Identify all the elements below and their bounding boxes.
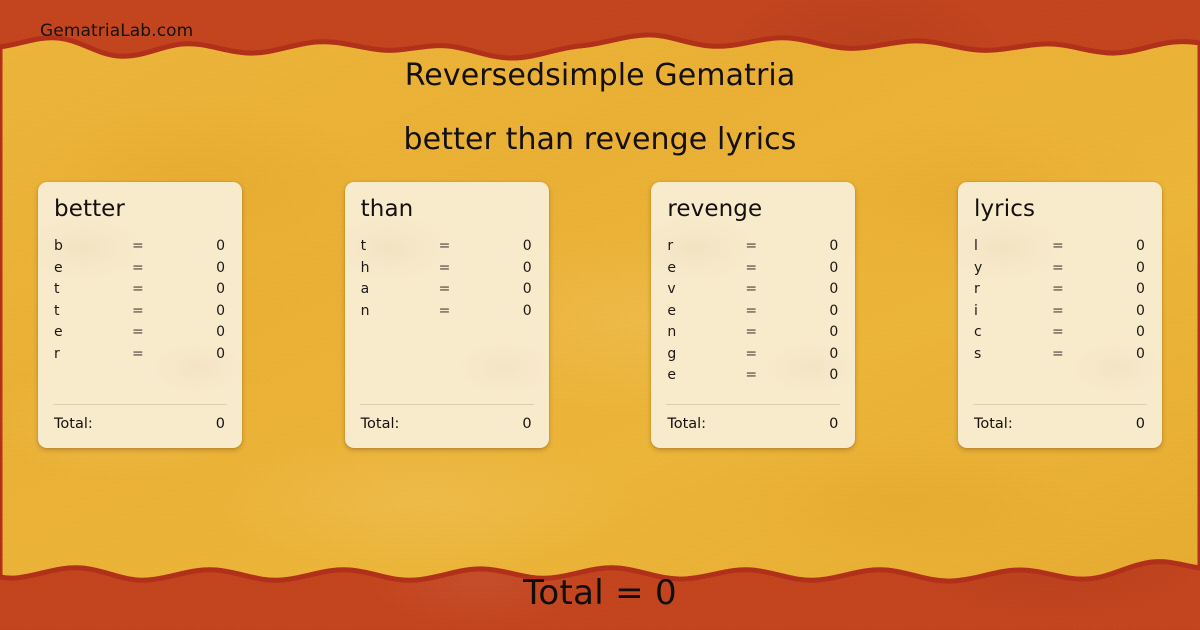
card-total-row: Total:0 xyxy=(359,416,535,434)
card-divider xyxy=(360,404,534,405)
letter-value-list: b=0e=0t=0t=0e=0r=0 xyxy=(52,238,228,404)
word-cards-row: betterb=0e=0t=0t=0e=0r=0Total:0thant=0h=… xyxy=(38,182,1162,448)
letter-cell: s xyxy=(972,346,1052,362)
equals-sign: = xyxy=(439,238,483,254)
letter-cell: l xyxy=(972,238,1052,254)
letter-value-list: t=0h=0a=0n=0 xyxy=(359,238,535,404)
word-card: thant=0h=0a=0n=0Total:0 xyxy=(345,182,549,448)
letter-value-row: i=0 xyxy=(972,303,1148,325)
equals-sign: = xyxy=(132,324,176,340)
site-logo[interactable]: GematriaLab.com xyxy=(40,21,193,41)
letter-value-cell: 0 xyxy=(176,238,228,254)
equals-sign: = xyxy=(1052,303,1096,319)
content-layer: GematriaLab.com Reversedsimple Gematria … xyxy=(0,0,1200,630)
equals-sign: = xyxy=(132,238,176,254)
letter-value-row: v=0 xyxy=(665,281,841,303)
word-card-title: better xyxy=(52,198,228,221)
word-card-title: revenge xyxy=(665,198,841,221)
letter-cell: b xyxy=(52,238,132,254)
letter-cell: i xyxy=(972,303,1052,319)
word-card: revenger=0e=0v=0e=0n=0g=0e=0Total:0 xyxy=(651,182,855,448)
letter-value-cell: 0 xyxy=(483,238,535,254)
letter-value-row: e=0 xyxy=(665,260,841,282)
letter-value-cell: 0 xyxy=(176,324,228,340)
equals-sign: = xyxy=(132,303,176,319)
equals-sign: = xyxy=(132,281,176,297)
letter-value-row: a=0 xyxy=(359,281,535,303)
equals-sign: = xyxy=(132,260,176,276)
equals-sign: = xyxy=(1052,324,1096,340)
page-title: Reversedsimple Gematria xyxy=(0,58,1200,93)
card-total-label: Total: xyxy=(359,416,523,432)
card-total-value: 0 xyxy=(1136,416,1148,432)
equals-sign: = xyxy=(1052,281,1096,297)
letter-value-cell: 0 xyxy=(1096,281,1148,297)
letter-value-cell: 0 xyxy=(789,367,841,383)
letter-value-row: t=0 xyxy=(52,281,228,303)
card-total-value: 0 xyxy=(216,416,228,432)
card-total-value: 0 xyxy=(522,416,534,432)
equals-sign: = xyxy=(745,238,789,254)
card-divider xyxy=(666,404,840,405)
letter-value-cell: 0 xyxy=(1096,324,1148,340)
letter-value-row: e=0 xyxy=(52,260,228,282)
letter-value-row: t=0 xyxy=(52,303,228,325)
letter-cell: g xyxy=(665,346,745,362)
letter-value-row: r=0 xyxy=(972,281,1148,303)
letter-value-row: h=0 xyxy=(359,260,535,282)
page-subtitle: better than revenge lyrics xyxy=(0,122,1200,157)
letter-cell: t xyxy=(359,238,439,254)
letter-value-row: y=0 xyxy=(972,260,1148,282)
gematria-card-image: GematriaLab.com Reversedsimple Gematria … xyxy=(0,0,1200,630)
letter-value-row: n=0 xyxy=(665,324,841,346)
equals-sign: = xyxy=(745,281,789,297)
letter-cell: e xyxy=(52,260,132,276)
letter-cell: y xyxy=(972,260,1052,276)
card-total-label: Total: xyxy=(665,416,829,432)
letter-cell: n xyxy=(665,324,745,340)
letter-value-row: n=0 xyxy=(359,303,535,325)
letter-cell: r xyxy=(52,346,132,362)
letter-value-row: e=0 xyxy=(52,324,228,346)
word-card: lyricsl=0y=0r=0i=0c=0s=0Total:0 xyxy=(958,182,1162,448)
card-total-label: Total: xyxy=(52,416,216,432)
letter-value-row: e=0 xyxy=(665,367,841,389)
letter-value-cell: 0 xyxy=(789,324,841,340)
card-total-row: Total:0 xyxy=(665,416,841,434)
letter-value-row: c=0 xyxy=(972,324,1148,346)
letter-cell: e xyxy=(665,303,745,319)
equals-sign: = xyxy=(745,367,789,383)
equals-sign: = xyxy=(439,281,483,297)
grand-total: Total = 0 xyxy=(0,573,1200,613)
letter-value-list: l=0y=0r=0i=0c=0s=0 xyxy=(972,238,1148,404)
letter-value-cell: 0 xyxy=(1096,238,1148,254)
letter-value-list: r=0e=0v=0e=0n=0g=0e=0 xyxy=(665,238,841,404)
letter-value-row: e=0 xyxy=(665,303,841,325)
equals-sign: = xyxy=(745,346,789,362)
letter-value-cell: 0 xyxy=(1096,303,1148,319)
letter-cell: n xyxy=(359,303,439,319)
letter-value-row: r=0 xyxy=(665,238,841,260)
letter-value-row: r=0 xyxy=(52,346,228,368)
letter-cell: e xyxy=(665,367,745,383)
letter-value-cell: 0 xyxy=(483,281,535,297)
letter-value-cell: 0 xyxy=(483,260,535,276)
card-total-row: Total:0 xyxy=(52,416,228,434)
card-divider xyxy=(973,404,1147,405)
letter-value-cell: 0 xyxy=(176,346,228,362)
letter-value-cell: 0 xyxy=(176,260,228,276)
letter-value-row: g=0 xyxy=(665,346,841,368)
word-card: betterb=0e=0t=0t=0e=0r=0Total:0 xyxy=(38,182,242,448)
card-divider xyxy=(53,404,227,405)
equals-sign: = xyxy=(439,260,483,276)
card-total-row: Total:0 xyxy=(972,416,1148,434)
letter-value-cell: 0 xyxy=(789,281,841,297)
letter-value-cell: 0 xyxy=(789,303,841,319)
equals-sign: = xyxy=(1052,260,1096,276)
word-card-title: than xyxy=(359,198,535,221)
letter-cell: t xyxy=(52,303,132,319)
letter-cell: e xyxy=(665,260,745,276)
equals-sign: = xyxy=(439,303,483,319)
equals-sign: = xyxy=(745,260,789,276)
letter-cell: r xyxy=(665,238,745,254)
letter-value-cell: 0 xyxy=(176,303,228,319)
letter-cell: v xyxy=(665,281,745,297)
letter-cell: a xyxy=(359,281,439,297)
letter-cell: h xyxy=(359,260,439,276)
letter-cell: t xyxy=(52,281,132,297)
equals-sign: = xyxy=(1052,238,1096,254)
word-card-title: lyrics xyxy=(972,198,1148,221)
letter-cell: c xyxy=(972,324,1052,340)
equals-sign: = xyxy=(132,346,176,362)
letter-cell: r xyxy=(972,281,1052,297)
equals-sign: = xyxy=(1052,346,1096,362)
letter-value-cell: 0 xyxy=(789,260,841,276)
card-total-label: Total: xyxy=(972,416,1136,432)
equals-sign: = xyxy=(745,303,789,319)
letter-value-cell: 0 xyxy=(789,238,841,254)
letter-value-row: s=0 xyxy=(972,346,1148,368)
letter-value-cell: 0 xyxy=(1096,260,1148,276)
letter-value-cell: 0 xyxy=(1096,346,1148,362)
letter-value-row: l=0 xyxy=(972,238,1148,260)
letter-value-cell: 0 xyxy=(789,346,841,362)
letter-value-cell: 0 xyxy=(176,281,228,297)
letter-value-row: t=0 xyxy=(359,238,535,260)
equals-sign: = xyxy=(745,324,789,340)
letter-value-row: b=0 xyxy=(52,238,228,260)
letter-value-cell: 0 xyxy=(483,303,535,319)
letter-cell: e xyxy=(52,324,132,340)
card-total-value: 0 xyxy=(829,416,841,432)
